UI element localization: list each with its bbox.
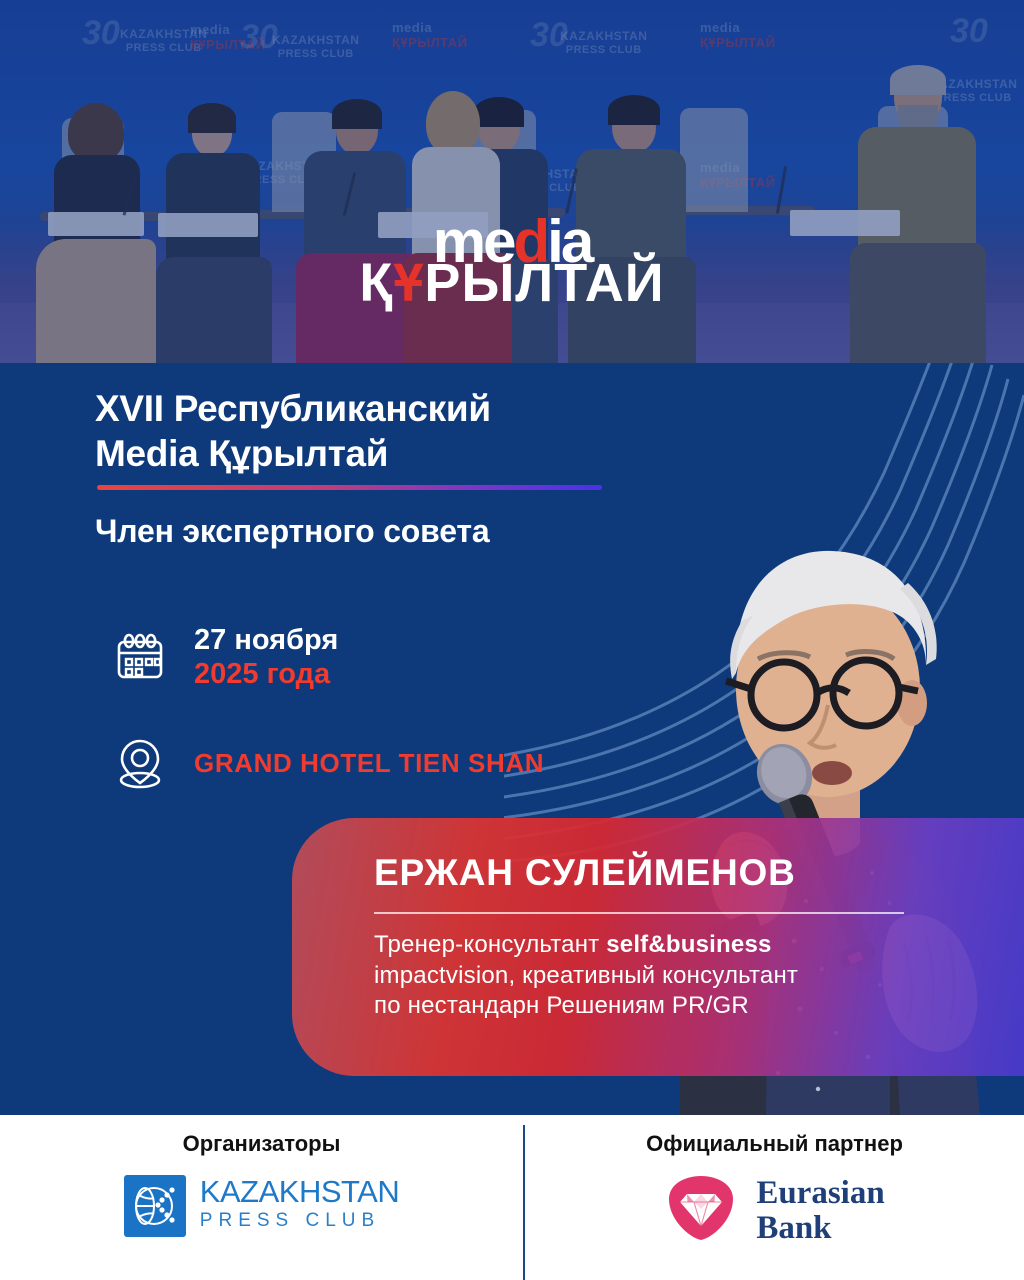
venue-row: GRAND HOTEL TIEN SHAN [108,731,544,795]
date-day-month: 27 ноября [194,623,338,657]
speaker-role: Тренер-консультант self&business impactv… [374,930,984,1022]
partner-label: Официальный партнер [646,1131,903,1157]
organizers-column: Организаторы [0,1115,523,1280]
speaker-role-line3: по нестандарн Решениям PR/GR [374,991,984,1022]
wordmark-kurultai: ҚҰРЫЛТАЙ [0,259,1024,308]
speaker-role-line2: impactvision, креативный консультант [374,961,984,992]
sponsor-footer: Организаторы [0,1115,1024,1280]
kazakhstan-press-club-wordmark: KAZAKHSTAN PRESS CLUB [200,1176,399,1236]
date-row: 27 ноября 2025 года [108,623,544,691]
wordmark-kurultai-post: РЫЛТАЙ [424,253,664,313]
partner-column: Официальный партнер Eurasian [525,1115,1024,1280]
venue-name: GRAND HOTEL TIEN SHAN [194,748,544,779]
date-text: 27 ноября 2025 года [194,623,338,691]
eurasian-bank-diamond-shield-icon [664,1171,738,1250]
wordmark-kurultai-accent: Ұ [393,253,424,313]
role-subtitle: Член экспертного совета [95,513,489,550]
kazakhstan-press-club-logo[interactable]: KAZAKHSTAN PRESS CLUB [124,1175,399,1237]
role-line1-brand: self&business [606,931,771,958]
speaker-name: ЕРЖАН СУЛЕЙМЕНОВ [374,852,984,894]
calendar-icon [108,625,172,689]
map-pin-icon [108,731,172,795]
date-year: 2025 года [194,657,338,691]
eurasian-bank-line2: Bank [756,1211,884,1246]
eurasian-bank-line1: Eurasian [756,1176,884,1211]
gradient-divider [97,485,602,490]
name-card-rule [374,912,904,914]
event-photo-banner: 30 KAZAKHSTANPRESS CLUB mediaҚҰРЫЛТАЙ 30… [0,0,1024,363]
event-details: 27 ноября 2025 года GRAND HOTEL TIEN SHA… [108,623,544,795]
kazakhstan-press-club-globe-icon [124,1175,186,1237]
eurasian-bank-wordmark: Eurasian Bank [756,1176,884,1246]
wordmark-kurultai-pre: Қ [359,253,393,313]
kpc-line2: PRESS CLUB [200,1207,399,1236]
kpc-line1: KAZAKHSTAN [200,1176,399,1207]
role-line1-prefix: Тренер-консультант [374,931,606,958]
media-kurultai-wordmark: media ҚҰРЫЛТАЙ [0,216,1024,308]
speaker-name-card: ЕРЖАН СУЛЕЙМЕНОВ Тренер-консультант self… [292,818,1024,1076]
eurasian-bank-logo[interactable]: Eurasian Bank [664,1171,884,1250]
organizers-label: Организаторы [183,1131,341,1157]
speaker-role-line1: Тренер-консультант self&business [374,930,984,961]
